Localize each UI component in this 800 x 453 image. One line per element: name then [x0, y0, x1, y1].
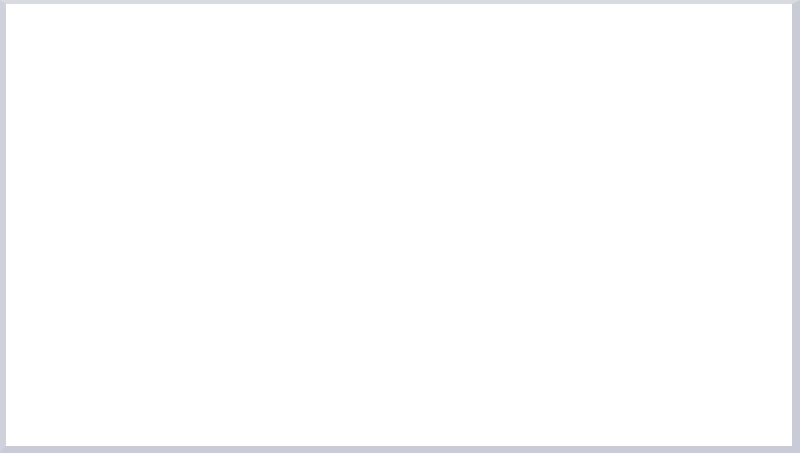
slide-root: 03 技术服务 01 定期免费锡样分析 02 提供锡炉清洗方案 [0, 0, 800, 453]
hexagon-number: 01 [296, 80, 324, 100]
hexagon-card-02[interactable]: 02 提供锡炉清洗方案 [410, 51, 528, 181]
hexagon-label: 提供锡炉清洗方案 [418, 101, 522, 136]
hexagon-number: 04 [450, 340, 478, 360]
hexagon-card-03[interactable]: 03 结合业界权威提供产品异常分析 [468, 196, 586, 326]
hexagon-card-01[interactable]: 01 定期免费锡样分析 [256, 51, 374, 181]
hexagon-number: 03 [508, 225, 536, 245]
hexagon-label: 24小时电话技术支援 [207, 231, 311, 266]
page-number: 21 [713, 416, 726, 430]
watermark-dot-icon [752, 404, 758, 410]
people-group-icon [344, 187, 450, 249]
hexagon-number: 06 [239, 210, 267, 230]
hexagon-card-06[interactable]: 06 24小时电话技术支援 [199, 181, 317, 311]
center-label: 专业服务 [324, 251, 470, 278]
hexagon-label: 提供焊料导入方案 [418, 361, 522, 396]
hexagon-label: 结合业界权威提供产品异常分析 [476, 246, 580, 281]
center-cluster: 专业服务 [324, 187, 470, 295]
watermark-logo [724, 392, 786, 422]
hexagon-card-05[interactable]: 05 提供锡渣处理方案 [256, 311, 374, 441]
slide-canvas: 03 技术服务 01 定期免费锡样分析 02 提供锡炉清洗方案 [6, 4, 792, 446]
hexagon-label: 提供锡渣处理方案 [264, 361, 368, 396]
hexagon-number: 02 [450, 80, 478, 100]
hexagon-card-04[interactable]: 04 提供焊料导入方案 [410, 311, 528, 441]
hexagon-number: 05 [296, 340, 324, 360]
hexagon-label: 定期免费锡样分析 [264, 101, 368, 136]
